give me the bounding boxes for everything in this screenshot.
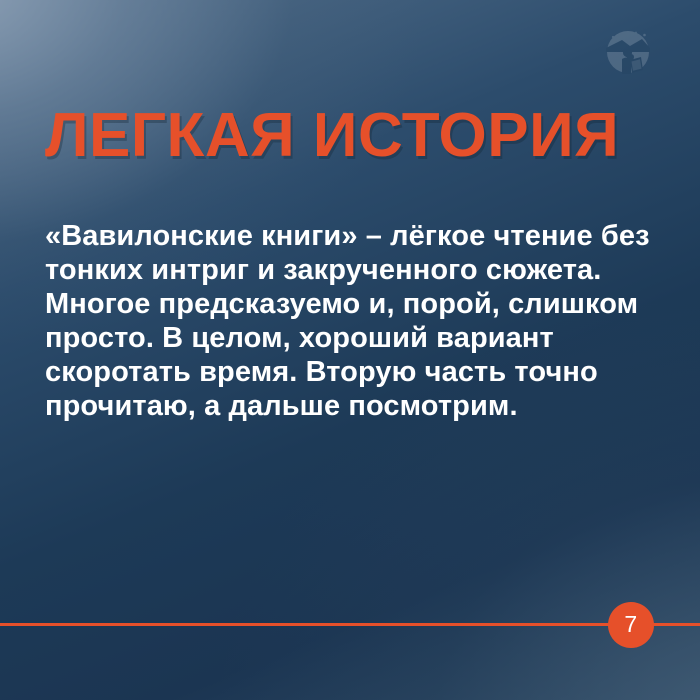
page-number-label: 7 [624, 613, 637, 636]
page-number-badge: 7 [608, 602, 654, 648]
slide-canvas: ЛЕГКАЯ ИСТОРИЯ «Вавилонские книги» – лёг… [0, 0, 700, 700]
body-paragraph: «Вавилонские книги» – лёгкое чтение без … [45, 219, 655, 423]
body-line: просто. В целом, хороший вариант [45, 321, 655, 355]
page-title: ЛЕГКАЯ ИСТОРИЯ [45, 103, 665, 169]
body-line: тонких интриг и закрученного сюжета. [45, 253, 655, 287]
body-line: Многое предсказуемо и, порой, слишком [45, 287, 655, 321]
footer-divider-rule [0, 623, 700, 626]
body-line: «Вавилонские книги» – лёгкое чтение без [45, 219, 655, 253]
body-line: скоротать время. Вторую часть точно [45, 355, 655, 389]
body-line: прочитаю, а дальше посмотрим. [45, 389, 655, 423]
reader-in-circle-watermark-icon [600, 24, 656, 80]
